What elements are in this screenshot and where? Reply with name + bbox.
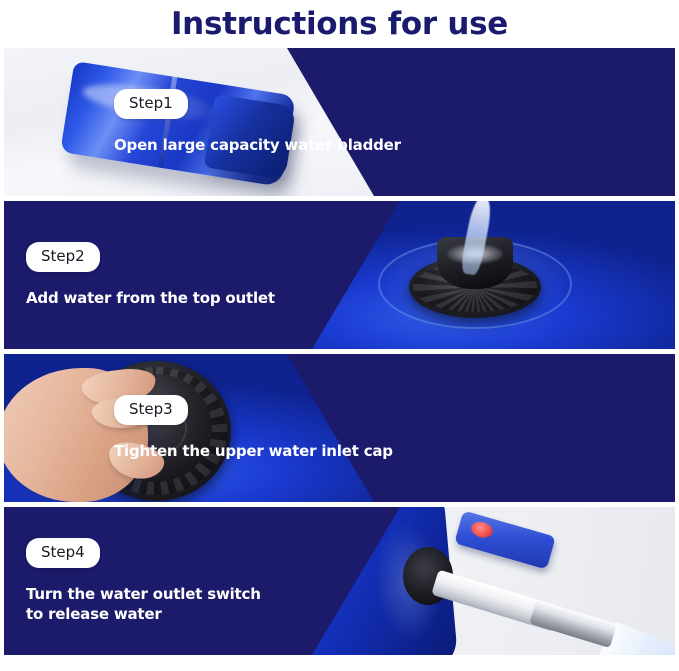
step-2-caption: Add water from the top outlet: [26, 288, 275, 308]
step-2-badge: Step2: [26, 242, 100, 272]
step-panel-2: Step2 Add water from the top outlet: [4, 201, 675, 349]
step-panel-4: Step4 Turn the water outlet switch to re…: [4, 507, 675, 655]
step-panel-3: Step3 Tighten the upper water inlet cap: [4, 354, 675, 502]
step-4-content: Step4 Turn the water outlet switch to re…: [26, 507, 261, 655]
title-bar: Instructions for use: [0, 0, 679, 48]
metal-pipe-icon: [529, 600, 617, 648]
step-1-badge: Step1: [114, 89, 188, 119]
step-1-caption: Open large capacity water bladder: [114, 135, 401, 155]
step-3-caption: Tighten the upper water inlet cap: [114, 441, 393, 461]
step-3-badge: Step3: [114, 395, 188, 425]
valve-handle-icon: [454, 510, 556, 569]
instructions-infographic: Instructions for use Step1 Open large ca…: [0, 0, 679, 671]
step-2-content: Step2 Add water from the top outlet: [26, 201, 275, 349]
page-title: Instructions for use: [171, 9, 508, 40]
step-3-content: Step3 Tighten the upper water inlet cap: [114, 354, 393, 502]
step-4-caption: Turn the water outlet switch to release …: [26, 584, 261, 625]
steps-list: Step1 Open large capacity water bladder …: [0, 48, 679, 655]
step-panel-1: Step1 Open large capacity water bladder: [4, 48, 675, 196]
step-4-badge: Step4: [26, 538, 100, 568]
step-1-content: Step1 Open large capacity water bladder: [114, 48, 401, 196]
